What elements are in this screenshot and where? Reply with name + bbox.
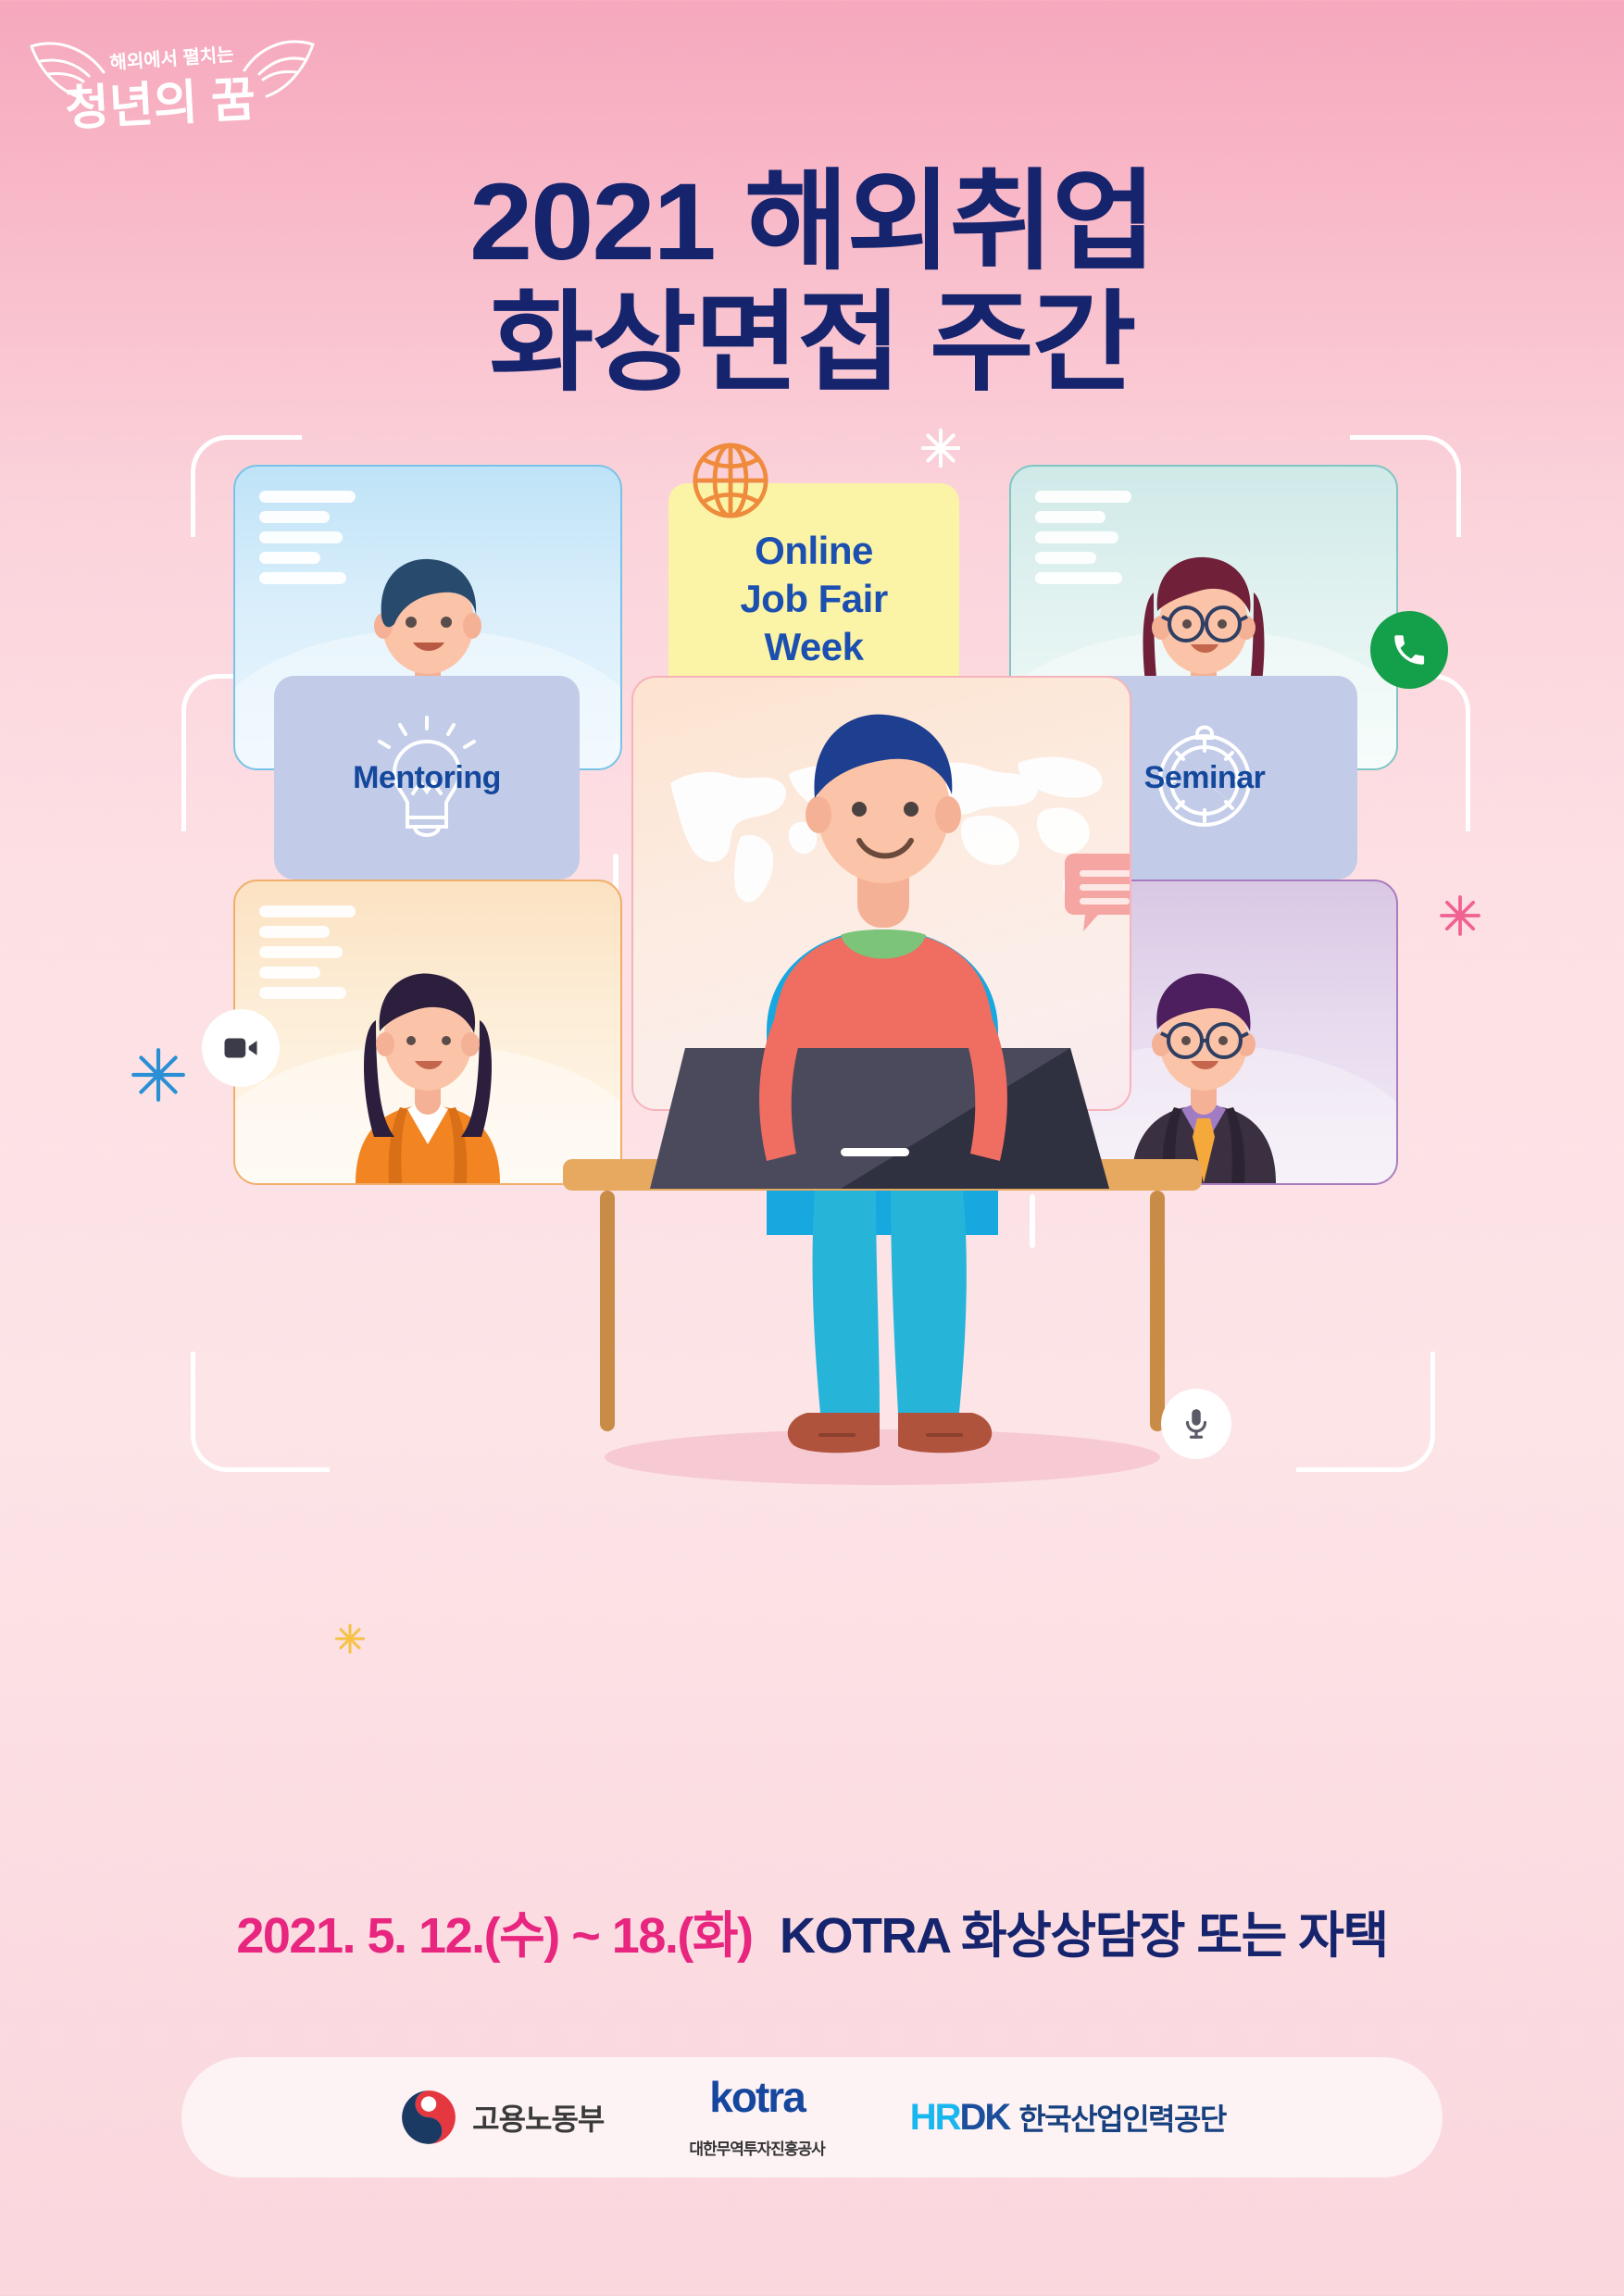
hrdk-mark-a: HR — [910, 2097, 960, 2138]
sparkle-white — [918, 426, 963, 470]
decor-arc-bottom-left — [191, 1352, 330, 1472]
mic-badge[interactable] — [1161, 1389, 1231, 1459]
kotra-wordmark: kotra — [709, 2076, 804, 2118]
microphone-icon — [1179, 1406, 1214, 1441]
title-line-2: 화상면접 주간 — [0, 286, 1624, 402]
sparkle-blue — [130, 1046, 187, 1104]
sparkle-gold — [331, 1620, 369, 1657]
decor-arc-bottom-right — [1296, 1352, 1435, 1472]
poster-title: 2021 해외취업 화상면접 주간 — [0, 165, 1624, 402]
title-line-1: 2021 해외취업 — [0, 165, 1624, 281]
sparkle-pink — [1437, 892, 1483, 939]
footer-logo-bar: 고용노동부 kotra 대한무역투자진흥공사 HRDK 한국산업인력공단 — [181, 2057, 1443, 2177]
kotra-sublabel: 대한무역투자진흥공사 — [689, 2136, 824, 2159]
globe-icon — [681, 431, 780, 530]
brand-word: 청년의 꿈 — [64, 73, 257, 137]
kotra-logo[interactable]: kotra 대한무역투자진흥공사 — [689, 2076, 824, 2159]
event-place: KOTRA 화상상담장 또는 자택 — [780, 1908, 1388, 1964]
illustration-stage: Online Job Fair Week Mentorin — [0, 398, 1624, 1824]
moel-logo[interactable]: 고용노동부 — [398, 2087, 604, 2148]
yellow-card-line-1: Online — [740, 527, 887, 575]
hrdk-wordmark: HRDK — [910, 2099, 1010, 2136]
mentoring-label: Mentoring — [353, 760, 501, 796]
hrdk-label: 한국산업인력공단 — [1018, 2096, 1226, 2139]
video-camera-icon — [221, 1029, 260, 1067]
hrdk-logo[interactable]: HRDK 한국산업인력공단 — [910, 2096, 1226, 2139]
yellow-card-line-2: Job Fair — [740, 575, 887, 623]
event-info-line: 2021. 5. 12.(수) ~ 18.(화) KOTRA 화상상담장 또는 … — [0, 1894, 1624, 1967]
taegeuk-icon — [398, 2087, 459, 2148]
hrdk-mark-b: DK — [960, 2097, 1010, 2138]
moel-label: 고용노동부 — [472, 2096, 604, 2139]
poster-root: 해외에서 펼치는 청년의 꿈 2021 해외취업 화상면접 주간 — [0, 0, 1624, 2296]
yellow-card-line-3: Week — [740, 623, 887, 671]
video-badge[interactable] — [202, 1009, 280, 1087]
phone-icon — [1390, 630, 1429, 669]
brand-tagline: 해외에서 펼치는 — [109, 44, 235, 73]
phone-badge[interactable] — [1370, 611, 1448, 689]
brand-logo: 해외에서 펼치는 청년의 꿈 — [24, 20, 320, 141]
event-date: 2021. 5. 12.(수) ~ 18.(화) — [236, 1908, 752, 1964]
seminar-label: Seminar — [1144, 760, 1266, 796]
